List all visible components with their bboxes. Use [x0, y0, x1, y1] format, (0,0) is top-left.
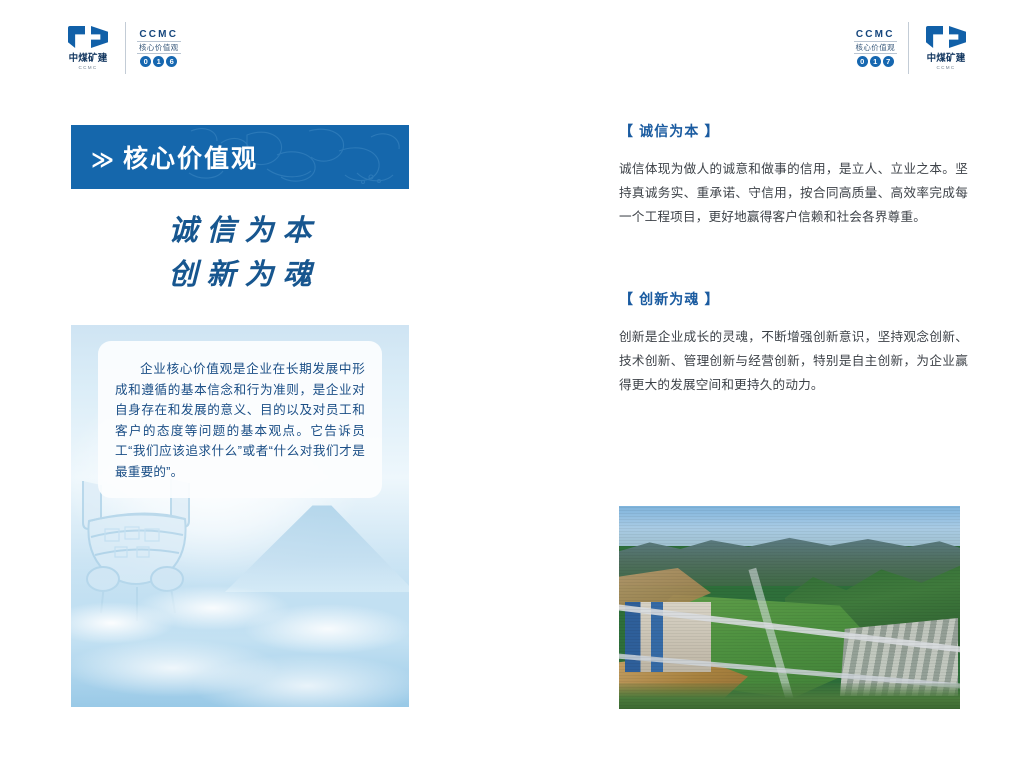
- running-head-left: 中煤矿建 CCMC CCMC 核心价值观 0 1 6: [62, 22, 181, 74]
- logo-shape-left: [926, 26, 943, 48]
- page-number-left: 0 1 6: [140, 56, 177, 67]
- section-body: 创新是企业成长的灵魂，不断增强创新意识，坚持观念创新、技术创新、管理创新与经营创…: [619, 325, 968, 397]
- page-digit: 7: [883, 56, 894, 67]
- banner-title: ≫核心价值观: [91, 139, 258, 175]
- section-name-label: 核心价值观: [854, 41, 898, 54]
- intro-card: 企业核心价值观是企业在长期发展中形成和遵循的基本信念和行为准则，是企业对自身存在…: [98, 341, 382, 498]
- section-integrity: 【 诚信为本 】 诚信体现为做人的诚意和做事的信用，是立人、立业之本。坚持真诚务…: [619, 121, 968, 229]
- section-heading: 【 诚信为本 】: [619, 121, 968, 141]
- logo-shape-right: [949, 26, 966, 48]
- header-divider: [908, 22, 909, 74]
- logo-chinese-name: 中煤矿建: [927, 50, 966, 64]
- slogan-block: 诚信为本 创新为魂: [71, 208, 409, 296]
- running-head-right: CCMC 核心价值观 0 1 7 中煤矿建 CCMC: [854, 22, 973, 74]
- page-digit: 6: [166, 56, 177, 67]
- section-marker-right: CCMC 核心价值观 0 1 7: [854, 29, 898, 67]
- logo-shape-left: [68, 26, 85, 48]
- banner-title-text: 核心价值观: [123, 145, 258, 173]
- company-logo: 中煤矿建 CCMC: [62, 26, 114, 70]
- section-banner: ≫核心价值观: [71, 125, 409, 189]
- page-digit: 0: [140, 56, 151, 67]
- logo-shape-right: [91, 26, 108, 48]
- section-marker-left: CCMC 核心价值观 0 1 6: [137, 29, 181, 67]
- photo-grain-overlay: [619, 506, 960, 709]
- ccmc-logo-icon: [926, 26, 966, 48]
- logo-english-name: CCMC: [937, 65, 956, 70]
- page-digit: 1: [153, 56, 164, 67]
- page-digit: 1: [870, 56, 881, 67]
- chevron-right-icon: ≫: [91, 147, 116, 172]
- logo-chinese-name: 中煤矿建: [69, 50, 108, 64]
- cloud-sea: [71, 557, 409, 707]
- section-body: 诚信体现为做人的诚意和做事的信用，是立人、立业之本。坚持真诚务实、重承诺、守信用…: [619, 157, 968, 229]
- page-digit: 0: [857, 56, 868, 67]
- mine-site-aerial-photo: [619, 506, 960, 709]
- brochure-spread: 中煤矿建 CCMC CCMC 核心价值观 0 1 6: [0, 0, 1024, 773]
- intro-paragraph: 企业核心价值观是企业在长期发展中形成和遵循的基本信念和行为准则，是企业对自身存在…: [115, 359, 365, 482]
- slogan-line-2: 创新为魂: [71, 252, 409, 296]
- ccmc-wordmark: CCMC: [139, 29, 178, 40]
- logo-english-name: CCMC: [79, 65, 98, 70]
- ccmc-logo-icon: [68, 26, 108, 48]
- header-divider: [125, 22, 126, 74]
- left-page: 中煤矿建 CCMC CCMC 核心价值观 0 1 6: [0, 0, 512, 773]
- slogan-line-1: 诚信为本: [71, 208, 409, 252]
- company-logo: 中煤矿建 CCMC: [920, 26, 972, 70]
- ccmc-wordmark: CCMC: [856, 29, 895, 40]
- page-number-right: 0 1 7: [857, 56, 894, 67]
- right-page: CCMC 核心价值观 0 1 7 中煤矿建 CCMC 【 诚信为本 】 诚: [512, 0, 1024, 773]
- section-heading: 【 创新为魂 】: [619, 289, 968, 309]
- section-name-label: 核心价值观: [137, 41, 181, 54]
- section-innovation: 【 创新为魂 】 创新是企业成长的灵魂，不断增强创新意识，坚持观念创新、技术创新…: [619, 289, 968, 397]
